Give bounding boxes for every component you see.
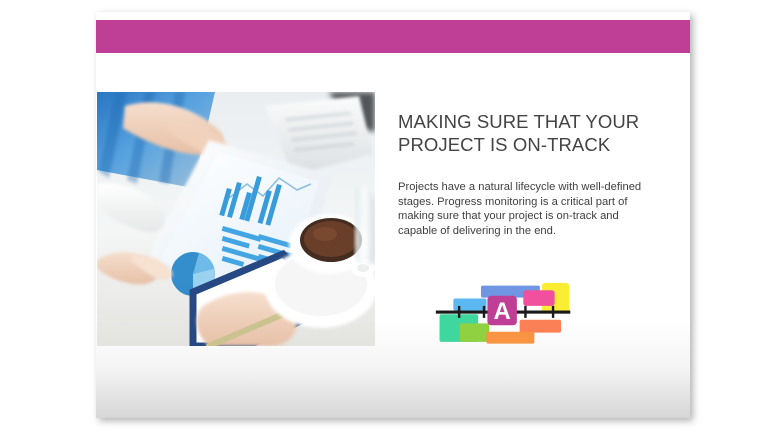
timeline-badge: A	[487, 296, 516, 325]
badge-letter: A	[493, 298, 510, 325]
timeline-tick-4	[552, 306, 554, 318]
project-timeline-graphic: A	[434, 270, 574, 350]
bar-green-lime	[460, 323, 489, 341]
slide-header-banner	[96, 20, 690, 53]
title-line-2: PROJECT IS ON-TRACK	[398, 134, 610, 155]
page-title: MAKING SURE THAT YOURPROJECT IS ON-TRACK	[398, 110, 678, 156]
slide-text-column: MAKING SURE THAT YOURPROJECT IS ON-TRACK…	[398, 110, 678, 238]
timeline-tick-3	[524, 306, 526, 318]
presentation-slide: MAKING SURE THAT YOURPROJECT IS ON-TRACK…	[96, 12, 690, 418]
body-paragraph: Projects have a natural lifecycle with w…	[398, 180, 643, 238]
bar-orange-bottom	[486, 332, 534, 344]
bar-pink-magenta	[523, 290, 554, 306]
timeline-tick-1	[458, 306, 460, 318]
bar-orange-right	[520, 320, 561, 333]
title-line-1: MAKING SURE THAT YOUR	[398, 111, 639, 132]
tablet-analytics-photo	[97, 92, 375, 346]
timeline-tick-2	[483, 306, 485, 318]
